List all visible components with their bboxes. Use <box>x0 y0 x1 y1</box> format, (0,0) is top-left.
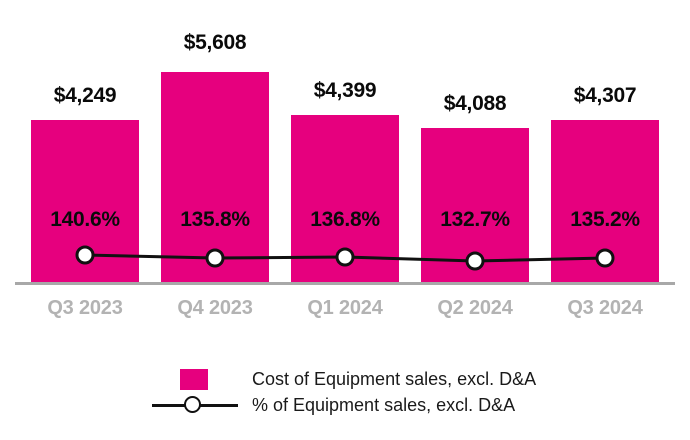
line-value-label: 135.2% <box>540 208 670 232</box>
x-tick-label-q1-2024: Q1 2024 <box>280 297 410 320</box>
legend-label-percent: % of Equipment sales, excl. D&A <box>238 395 515 416</box>
bar-q3-2024[interactable] <box>551 120 659 282</box>
x-axis-tick-labels: Q3 2023 Q4 2023 Q1 2024 Q2 2024 Q3 2024 <box>0 297 690 331</box>
legend-label-cost: Cost of Equipment sales, excl. D&A <box>238 369 536 390</box>
bar-slot: $4,249 140.6% <box>20 0 150 290</box>
line-value-label: 132.7% <box>410 208 540 232</box>
bar-q3-2023[interactable] <box>31 120 139 282</box>
chart-legend: Cost of Equipment sales, excl. D&A % of … <box>0 358 690 428</box>
x-tick-label-q3-2024: Q3 2024 <box>540 297 670 320</box>
bar-q2-2024[interactable] <box>421 128 529 282</box>
bar-slot: $4,088 132.7% <box>410 0 540 290</box>
bar-value-label: $4,307 <box>540 84 670 108</box>
x-tick-label-q3-2023: Q3 2023 <box>20 297 150 320</box>
bar-value-label: $4,249 <box>20 84 150 108</box>
x-axis-line <box>15 282 675 285</box>
bar-slot: $4,399 136.8% <box>280 0 410 290</box>
plot-area: $4,249 140.6% $5,608 135.8% $4,399 136.8… <box>0 0 690 290</box>
x-tick-label-q4-2023: Q4 2023 <box>150 297 280 320</box>
legend-key-bar <box>152 366 238 392</box>
legend-item-cost[interactable]: Cost of Equipment sales, excl. D&A <box>152 366 536 392</box>
legend-key-line <box>152 392 238 418</box>
circle-marker-icon <box>184 396 201 413</box>
bar-q1-2024[interactable] <box>291 115 399 282</box>
line-value-label: 140.6% <box>20 208 150 232</box>
bar-value-label: $4,088 <box>410 92 540 116</box>
bar-slot: $4,307 135.2% <box>540 0 670 290</box>
bar-q4-2023[interactable] <box>161 72 269 282</box>
chart-container: $4,249 140.6% $5,608 135.8% $4,399 136.8… <box>0 0 690 440</box>
line-value-label: 135.8% <box>150 208 280 232</box>
legend-item-percent[interactable]: % of Equipment sales, excl. D&A <box>152 392 515 418</box>
bar-value-label: $4,399 <box>280 79 410 103</box>
bar-swatch-icon <box>180 369 208 390</box>
x-tick-label-q2-2024: Q2 2024 <box>410 297 540 320</box>
bar-slot: $5,608 135.8% <box>150 0 280 290</box>
bar-value-label: $5,608 <box>150 31 280 55</box>
line-value-label: 136.8% <box>280 208 410 232</box>
